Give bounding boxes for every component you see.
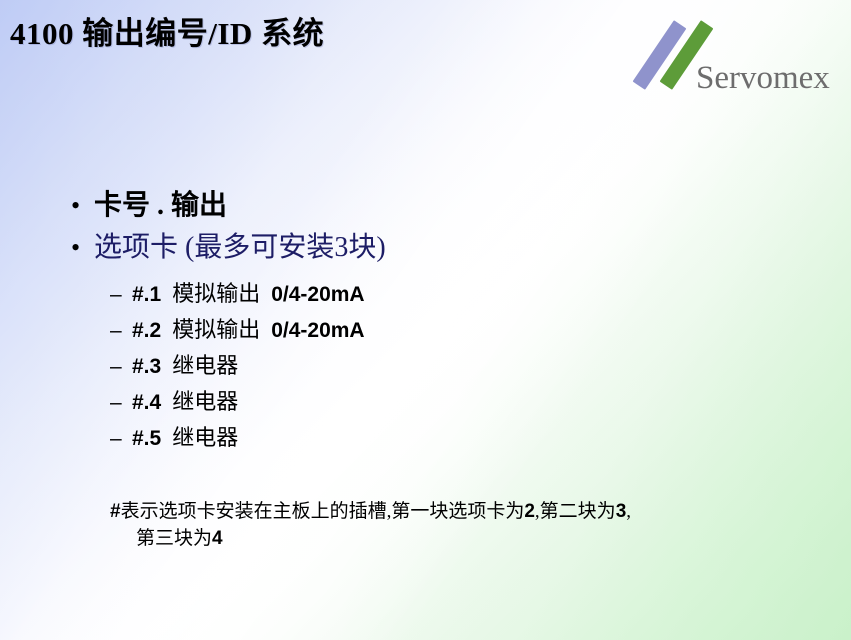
dash-marker-icon: – xyxy=(110,427,132,451)
footnote-hash-symbol: # xyxy=(110,501,121,522)
footnote-line-2: 第三块为4 xyxy=(110,525,800,552)
footnote-text-d: 第三块为 xyxy=(136,528,212,549)
sub-bullet-code: #.4 xyxy=(132,391,161,415)
sub-bullet-label: 模拟输出 xyxy=(172,276,260,308)
bullet-marker-icon: • xyxy=(62,228,94,268)
footnote-text-c: , xyxy=(626,501,631,522)
sub-bullet-label: 模拟输出 xyxy=(172,312,260,344)
dash-marker-icon: – xyxy=(110,319,132,343)
sub-bullet-label: 继电器 xyxy=(172,420,238,452)
brand-logo: Servomex xyxy=(626,24,841,104)
bullet-label-option-card: 选项卡 (最多可安装3块) xyxy=(94,228,822,268)
page-title: 4100 输出编号/ID 系统 xyxy=(10,8,324,53)
sub-bullet-code: #.1 xyxy=(132,283,161,307)
sub-bullet-item-1: – #.1 模拟输出 0/4-20mA xyxy=(110,276,810,312)
dash-marker-icon: – xyxy=(110,355,132,379)
footnote-slot-number-3: 4 xyxy=(212,528,223,549)
footnote: #表示选项卡安装在主板上的插槽,第一块选项卡为2,第二块为3, 第三块为4 xyxy=(110,498,800,552)
footnote-slot-number-1: 2 xyxy=(524,501,535,522)
sub-bullet-label: 继电器 xyxy=(172,384,238,416)
dash-marker-icon: – xyxy=(110,283,132,307)
sub-bullet-label: 继电器 xyxy=(172,348,238,380)
dash-marker-icon: – xyxy=(110,391,132,415)
sub-bullet-item-4: – #.4 继电器 xyxy=(110,384,810,420)
sub-bullet-item-3: – #.3 继电器 xyxy=(110,348,810,384)
sub-bullet-list: – #.1 模拟输出 0/4-20mA – #.2 模拟输出 0/4-20mA … xyxy=(110,276,810,456)
sub-bullet-item-2: – #.2 模拟输出 0/4-20mA xyxy=(110,312,810,348)
bullet-item-card-output: • 卡号 . 输出 xyxy=(62,186,822,226)
bullet-label-card-output: 卡号 . 输出 xyxy=(94,186,822,226)
logo-wordmark: Servomex xyxy=(696,60,830,97)
sub-bullet-unit: 0/4-20mA xyxy=(271,283,364,307)
bullet-marker-icon: • xyxy=(62,186,94,226)
sub-bullet-unit: 0/4-20mA xyxy=(271,319,364,343)
slide-content: 4100 输出编号/ID 系统 Servomex • 卡号 . 输出 • 选项卡… xyxy=(0,0,851,640)
slide-canvas: 4100 输出编号/ID 系统 Servomex • 卡号 . 输出 • 选项卡… xyxy=(0,0,851,640)
sub-bullet-item-5: – #.5 继电器 xyxy=(110,420,810,456)
sub-bullet-code: #.3 xyxy=(132,355,161,379)
sub-bullet-code: #.5 xyxy=(132,427,161,451)
footnote-text-a: 表示选项卡安装在主板上的插槽,第一块选项卡为 xyxy=(121,501,525,522)
bullet-item-option-card: • 选项卡 (最多可安装3块) xyxy=(62,228,822,268)
footnote-slot-number-2: 3 xyxy=(616,501,627,522)
bullet-list: • 卡号 . 输出 • 选项卡 (最多可安装3块) xyxy=(62,186,822,270)
footnote-text-b: ,第二块为 xyxy=(535,501,616,522)
sub-bullet-code: #.2 xyxy=(132,319,161,343)
